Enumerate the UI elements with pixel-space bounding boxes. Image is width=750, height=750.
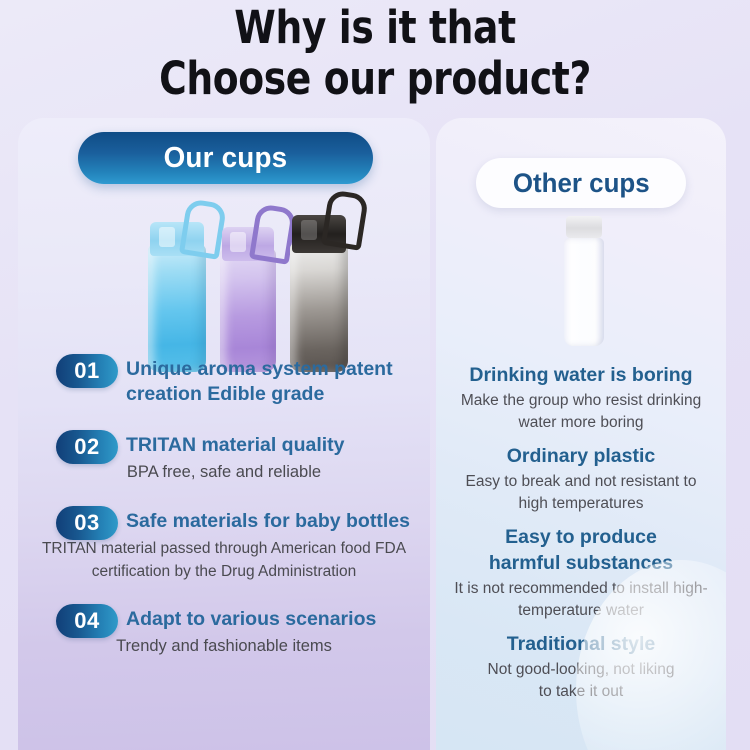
title-line-2: Choose our product? [26, 53, 724, 104]
drawback-sub-4: Not good-looking, not liking to take it … [436, 657, 726, 703]
feature-number-badge-03: 03 [56, 506, 118, 540]
feature-number-01: 01 [74, 358, 99, 384]
plain-bottle-cap [566, 216, 601, 238]
feature-sub-02: BPA free, safe and reliable [36, 461, 412, 484]
feature-item-01: 01 Unique aroma system patent creation E… [18, 354, 430, 420]
feature-number-badge-04: 04 [56, 604, 118, 638]
feature-number-02: 02 [74, 434, 99, 460]
bottle-black-cap-highlight [301, 220, 317, 240]
comparison-panels: Our cups [0, 118, 750, 750]
drawback-item-4: Traditional style Not good-looking, not … [436, 631, 726, 703]
plain-bottle-body [564, 238, 604, 346]
feature-item-03: 03 Safe materials for baby bottles TRITA… [18, 506, 430, 594]
feature-list: 01 Unique aroma system patent creation E… [18, 354, 430, 680]
feature-item-02: 02 TRITAN material quality BPA free, saf… [18, 430, 430, 496]
bottle-purple [220, 227, 276, 372]
feature-number-04: 04 [74, 608, 99, 634]
other-cups-badge-label: Other cups [513, 168, 650, 199]
feature-heading-01: Unique aroma system patent creation Edib… [126, 354, 430, 407]
other-cups-panel: Other cups Drinking water is boring Make… [436, 118, 726, 750]
drawback-sub-2: Easy to break and not resistant to high … [436, 469, 726, 515]
other-drawback-list: Drinking water is boring Make the group … [436, 362, 726, 712]
our-cups-badge-label: Our cups [164, 142, 288, 175]
drawback-item-2: Ordinary plastic Easy to break and not r… [436, 443, 726, 515]
feature-sub-04: Trendy and fashionable items [36, 635, 412, 658]
feature-heading-04: Adapt to various scenarios [126, 604, 430, 632]
drawback-heading-1: Drinking water is boring [436, 362, 726, 388]
page-title: Why is it that Choose our product? [0, 2, 750, 104]
drawback-heading-4: Traditional style [436, 631, 726, 657]
drawback-item-1: Drinking water is boring Make the group … [436, 362, 726, 434]
drawback-sub-1: Make the group who resist drinking water… [436, 388, 726, 434]
drawback-item-3: Easy to produce harmful substances It is… [436, 524, 726, 622]
plain-clear-bottle [564, 216, 604, 346]
our-bottles-image [18, 194, 430, 372]
bottle-black [290, 215, 348, 372]
drawback-heading-3: Easy to produce harmful substances [436, 524, 726, 576]
bottle-black-body [290, 242, 348, 372]
bottle-black-carry-loop [321, 189, 369, 251]
feature-heading-03: Safe materials for baby bottles [126, 506, 430, 534]
feature-number-badge-02: 02 [56, 430, 118, 464]
other-cups-badge: Other cups [476, 158, 686, 208]
drawback-sub-3: It is not recommended to install high-te… [436, 576, 726, 622]
our-cups-badge: Our cups [78, 132, 373, 184]
feature-sub-03: TRITAN material passed through American … [36, 537, 412, 583]
our-cups-panel: Our cups [18, 118, 430, 750]
feature-number-03: 03 [74, 510, 99, 536]
bottle-blue [148, 222, 206, 372]
bottle-purple-cap-highlight [230, 232, 245, 252]
feature-heading-02: TRITAN material quality [126, 430, 430, 458]
bottle-blue-cap-highlight [159, 227, 175, 247]
feature-item-04: 04 Adapt to various scenarios Trendy and… [18, 604, 430, 670]
drawback-heading-2: Ordinary plastic [436, 443, 726, 469]
title-line-1: Why is it that [26, 2, 724, 53]
feature-number-badge-01: 01 [56, 354, 118, 388]
bottle-blue-body [148, 244, 206, 372]
